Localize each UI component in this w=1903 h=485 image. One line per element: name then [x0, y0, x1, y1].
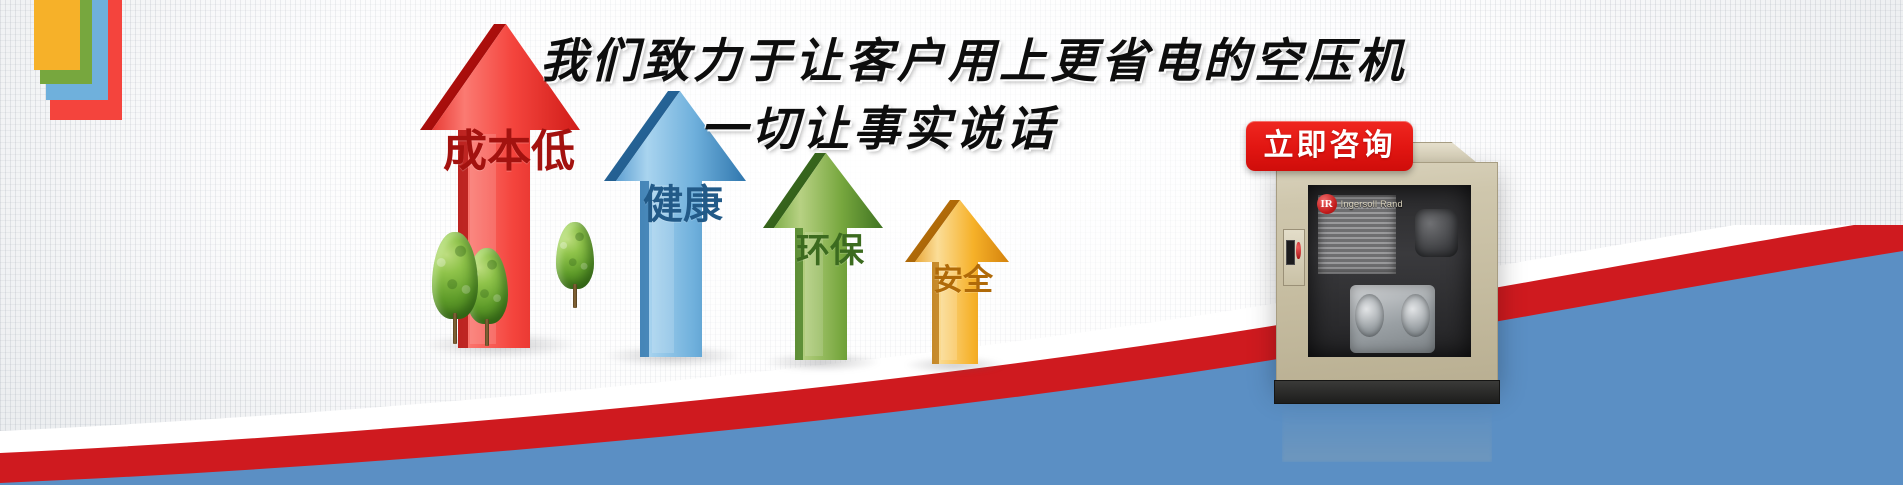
arrow-eco-label: 环保 — [755, 234, 889, 269]
tree-icon-small — [556, 222, 594, 308]
brand-name-label: Ingersoll Rand — [1341, 199, 1403, 209]
tree-trunk — [573, 284, 576, 308]
arrow-health-label: 健康 — [594, 185, 752, 226]
machine-cabinet: IR Ingersoll Rand — [1276, 162, 1498, 384]
promo-banner: 成本低 — [0, 0, 1903, 485]
tree-trunk — [485, 319, 488, 346]
headline-line-1: 我们致力于让客户用上更省电的空压机 — [540, 22, 1407, 91]
machine-pump — [1350, 285, 1435, 354]
tree-trunk — [453, 313, 457, 344]
consult-now-button[interactable]: 立即咨询 — [1246, 121, 1413, 171]
arrow-eco-reflection — [0, 220, 134, 304]
headline-line-2: 一切让事实说话 — [700, 90, 1057, 159]
tree-crown — [556, 222, 594, 289]
tree-crown — [432, 232, 478, 319]
machine-panel-screen — [1286, 240, 1295, 265]
machine-emergency-stop-button[interactable] — [1296, 242, 1300, 259]
arrow-eco: 环保 — [755, 148, 889, 360]
arrow-safety-label: 安全 — [898, 266, 1014, 297]
product-compressor: IR Ingersoll Rand — [1276, 162, 1498, 384]
arrow-cost-label: 成本低 — [408, 130, 586, 175]
brand-mark-icon: IR — [1317, 194, 1337, 214]
arrow-safety: 安全 — [898, 196, 1014, 364]
brand-logo: IR Ingersoll Rand — [1317, 194, 1403, 214]
machine-motor — [1415, 209, 1457, 257]
arrow-safety-reflection — [0, 304, 116, 374]
machine-control-panel[interactable] — [1283, 229, 1305, 286]
arrow-health-reflection — [0, 120, 158, 220]
tree-icon-left — [432, 232, 478, 344]
machine-skid-base — [1274, 380, 1500, 404]
consult-now-button-label: 立即咨询 — [1264, 131, 1396, 161]
